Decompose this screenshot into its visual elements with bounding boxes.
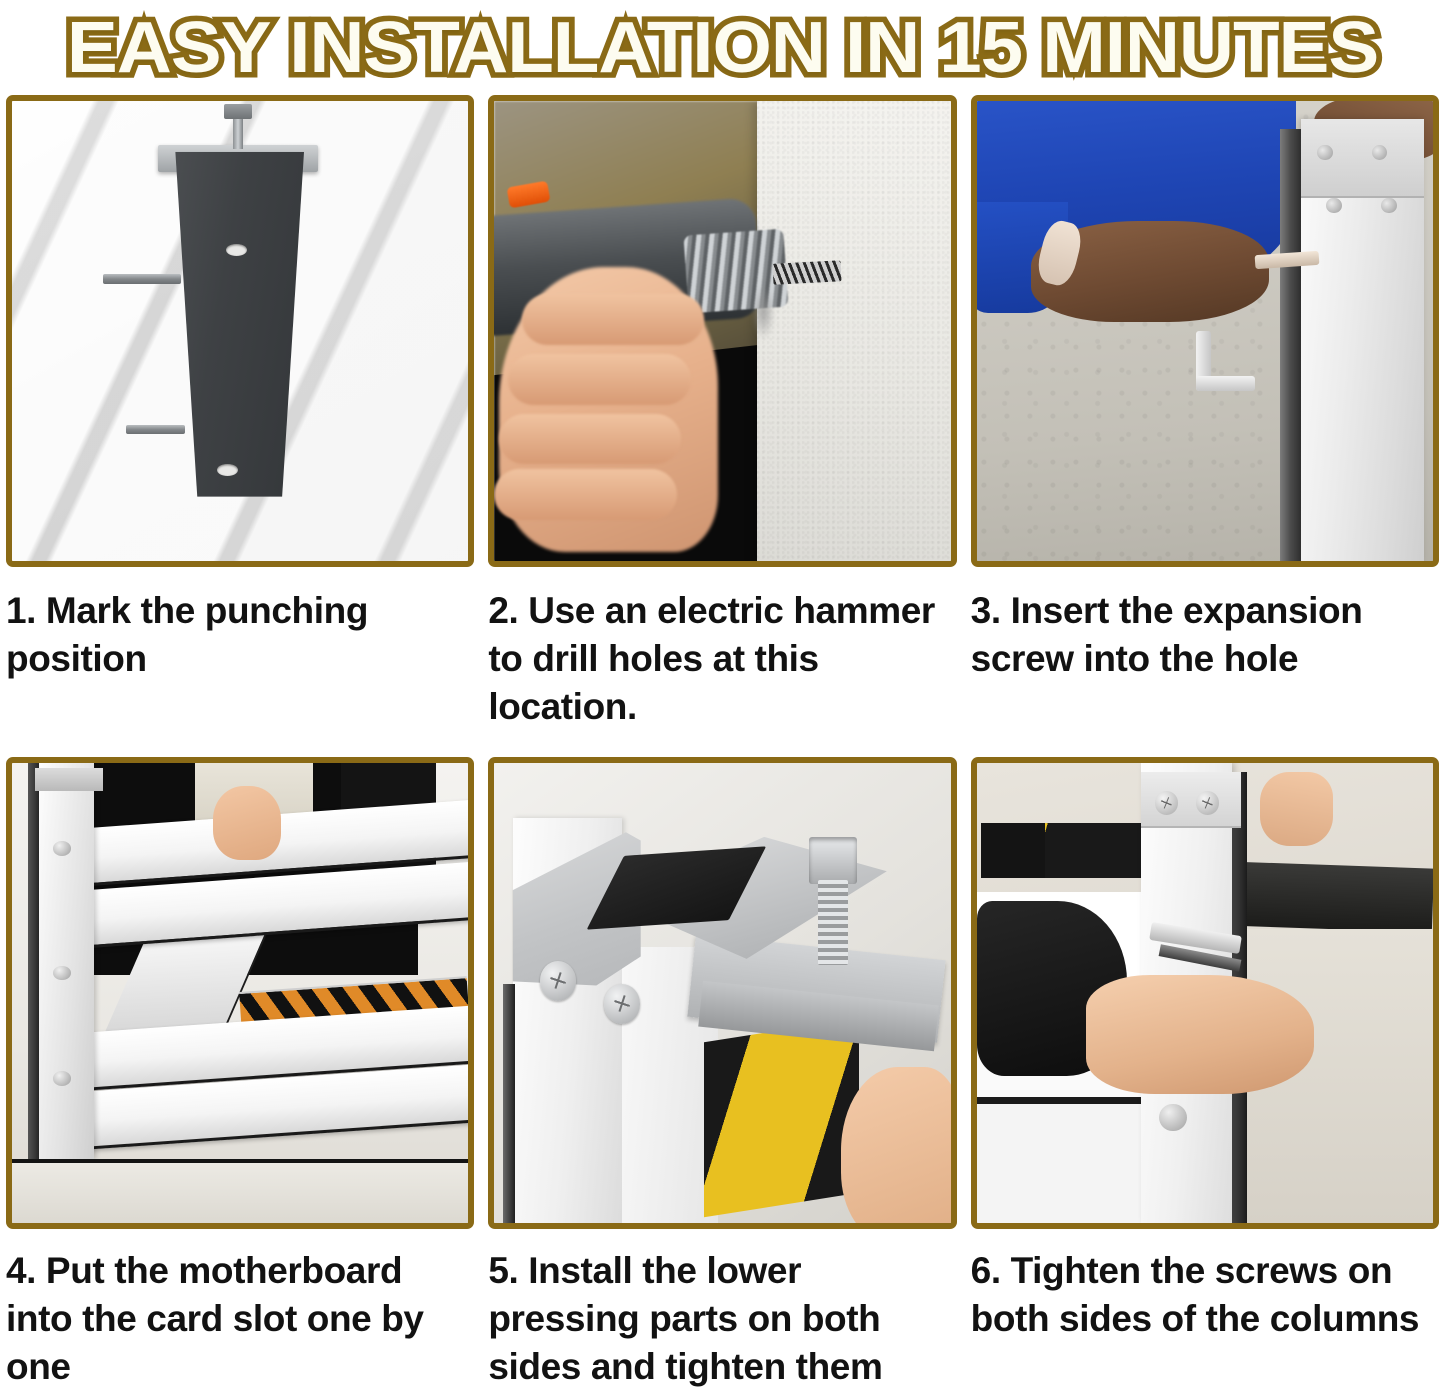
step-image-5 — [488, 757, 956, 1229]
step-caption-4: 4. Put the motherboard into the card slo… — [6, 1247, 474, 1391]
hazard-stripe-black — [981, 823, 1045, 878]
bolt-upper — [103, 274, 181, 285]
drill-hole-mark-upper — [226, 244, 247, 256]
second-hand — [1260, 772, 1333, 846]
step-image-4 — [6, 757, 474, 1229]
page-title: EASY INSTALLATION IN 15 MINUTES — [67, 12, 1378, 84]
step-caption-2: 2. Use an electric hammer to drill holes… — [488, 587, 956, 731]
nut-icon — [224, 104, 251, 120]
row-spacer — [6, 731, 1439, 757]
column-screw — [1317, 145, 1333, 161]
column-screw — [1326, 198, 1342, 214]
step-image-3 — [971, 95, 1439, 567]
step-image-2 — [488, 95, 956, 567]
bolt-lower — [126, 425, 185, 434]
finger — [494, 469, 677, 520]
steps-grid: 1. Mark the punching position 2. Use an … — [0, 95, 1445, 1392]
post-top-plate — [35, 768, 103, 791]
hand — [1086, 975, 1314, 1095]
hand — [213, 786, 281, 860]
column-screw — [1381, 198, 1397, 214]
bolt-thread — [818, 880, 849, 964]
hand — [841, 1067, 951, 1223]
step-image-6 — [971, 757, 1439, 1229]
column-dark-edge — [503, 984, 515, 1223]
step-card-3: 3. Insert the expansion screw into the h… — [971, 95, 1439, 731]
step-card-5: 5. Install the lower pressing parts on b… — [488, 757, 956, 1391]
step-card-6: 6. Tighten the screws on both sides of t… — [971, 757, 1439, 1391]
column-dark-edge — [1280, 129, 1301, 561]
step-card-1: 1. Mark the punching position — [6, 95, 474, 731]
phillips-screw — [604, 984, 641, 1024]
step-caption-5: 5. Install the lower pressing parts on b… — [488, 1247, 956, 1391]
phillips-screw — [540, 961, 577, 1001]
hex-bolt — [809, 837, 857, 961]
finger — [508, 354, 691, 405]
phillips-screw — [1196, 791, 1220, 815]
header-banner: EASY INSTALLATION IN 15 MINUTES — [0, 0, 1445, 95]
finger — [522, 294, 705, 345]
floor-strip — [12, 1159, 468, 1223]
step-card-4: 4. Put the motherboard into the card slo… — [6, 757, 474, 1391]
step-caption-1: 1. Mark the punching position — [6, 587, 474, 707]
drill-dust — [752, 285, 775, 340]
finger — [499, 414, 682, 465]
phillips-screw — [1155, 791, 1179, 815]
column-post — [39, 763, 94, 1159]
step-caption-3: 3. Insert the expansion screw into the h… — [971, 587, 1439, 707]
drill-bit — [772, 260, 841, 284]
bolt-head — [809, 837, 857, 884]
textured-wall — [757, 101, 951, 561]
allen-key-icon — [1196, 331, 1255, 391]
step-image-1 — [6, 95, 474, 567]
step-card-2: 2. Use an electric hammer to drill holes… — [488, 95, 956, 731]
step-caption-6: 6. Tighten the screws on both sides of t… — [971, 1247, 1439, 1367]
hazard-stripe — [704, 1018, 859, 1217]
lower-screw — [1159, 1104, 1186, 1132]
